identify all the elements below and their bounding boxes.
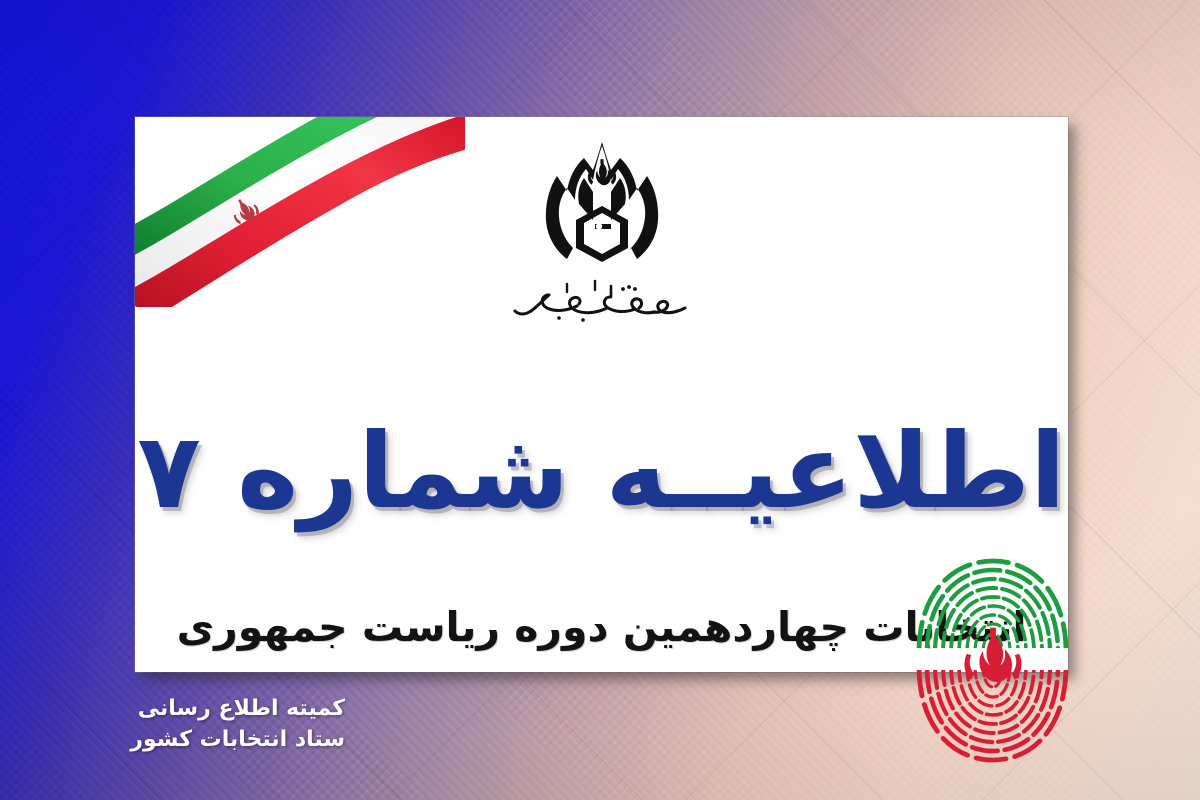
poster-canvas: اطلاعیــه شماره ۷ انتخابات چهاردهمین دور… (0, 0, 1200, 800)
logo-block (135, 136, 1068, 330)
logo-caption-calligraphy (507, 278, 697, 330)
announcement-card: اطلاعیــه شماره ۷ انتخابات چهاردهمین دور… (135, 117, 1068, 672)
credit-line-2: ستاد انتخابات کشور (55, 724, 345, 755)
credit-block: کمیته اطلاع رسانی ستاد انتخابات کشور (55, 693, 345, 755)
headline: اطلاعیــه شماره ۷ (135, 417, 1068, 526)
credit-line-1: کمیته اطلاع رسانی (55, 693, 345, 724)
election-headquarters-emblem (527, 136, 677, 276)
subtitle: انتخابات چهاردهمین دوره ریاست جمهوری (135, 604, 1068, 651)
